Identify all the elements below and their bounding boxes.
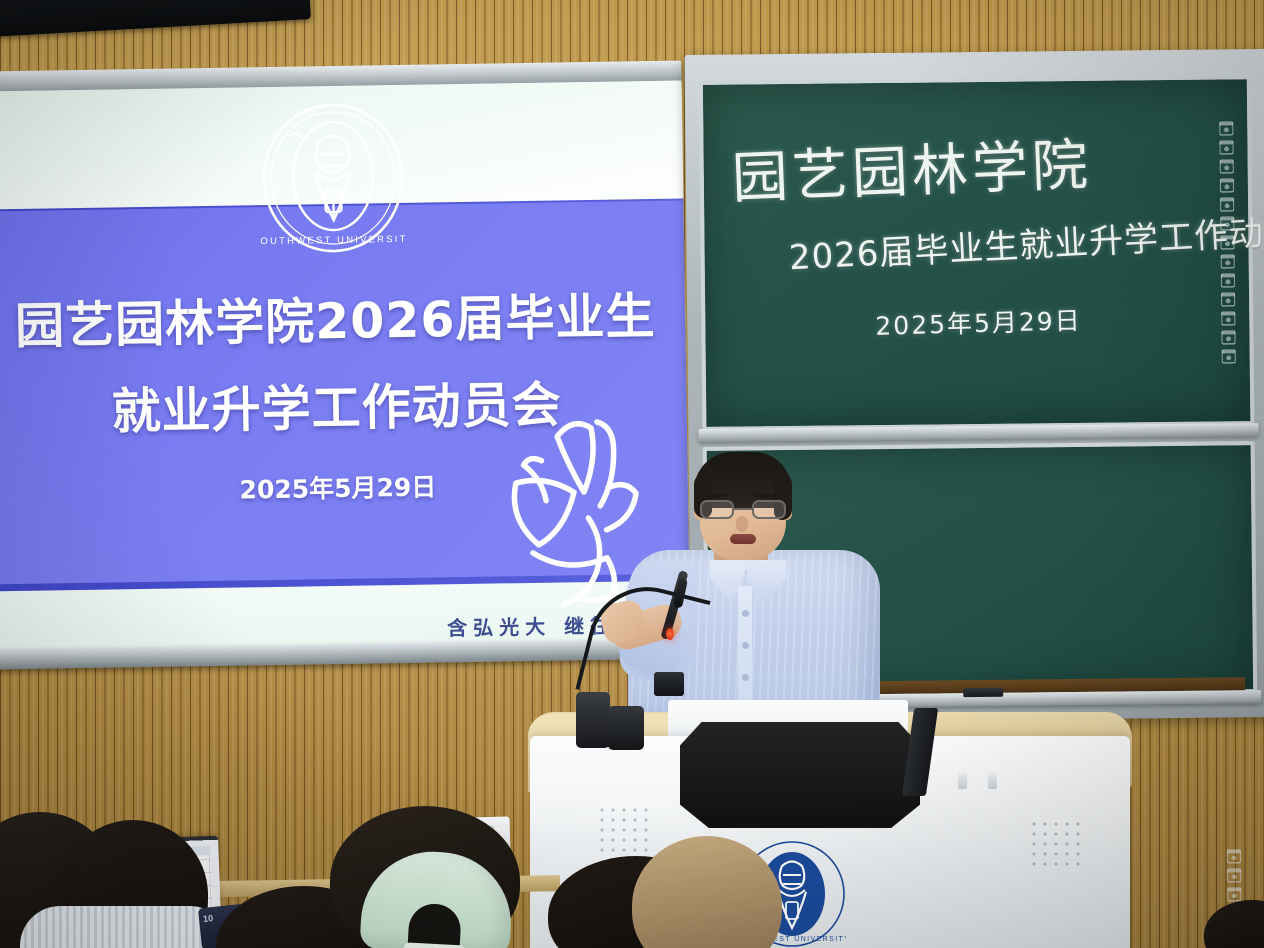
cap-ponytail-hole bbox=[407, 903, 461, 948]
audience-head-blonde bbox=[632, 836, 782, 948]
audience-foreground: 10 bbox=[0, 0, 1264, 948]
phone-label: 10 bbox=[203, 913, 214, 924]
lecture-hall-photo: SOUTHWEST UNIVERSITY 园艺园林学院2026届毕业生 就业升学… bbox=[0, 0, 1264, 948]
audience-head-6 bbox=[1204, 900, 1264, 948]
